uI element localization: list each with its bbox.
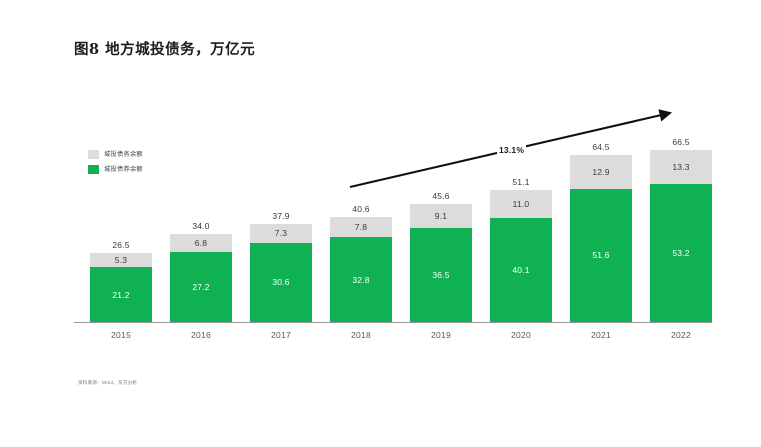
bar-total-label: 34.0	[170, 221, 232, 231]
chart-page: 图8 地方城投债务，万亿元 城投债务余额 城投债券余额 26.5 5.3 21.…	[0, 0, 761, 447]
bar-segment-green: 40.1	[490, 218, 552, 322]
bar-segment-gray: 6.8	[170, 234, 232, 252]
bar-segment-gray: 7.3	[250, 224, 312, 243]
bar-segment-gray-value: 12.9	[592, 167, 609, 177]
x-axis-line	[74, 322, 712, 323]
bar-segment-gray: 7.8	[330, 217, 392, 237]
bar-segment-green: 32.8	[330, 237, 392, 322]
x-axis-label: 2020	[490, 330, 552, 340]
bar-segment-green-value: 27.2	[192, 282, 209, 292]
bar-segment-green: 53.2	[650, 184, 712, 322]
bar-segment-green-value: 36.5	[432, 270, 449, 280]
legend-item-debt-total: 城投债务余额	[88, 148, 208, 160]
legend-label-debt-total: 城投债务余额	[104, 150, 143, 159]
bar-total-label: 40.6	[330, 204, 392, 214]
legend-label-bond-balance: 城投债券余额	[104, 165, 143, 174]
x-axis-label: 2017	[250, 330, 312, 340]
bar-segment-gray: 13.3	[650, 150, 712, 184]
bar-segment-green-value: 30.6	[272, 277, 289, 287]
bar-segment-green-value: 51.6	[592, 250, 609, 260]
bar-segment-gray-value: 6.8	[195, 238, 207, 248]
bar-total-label: 26.5	[90, 240, 152, 250]
bar-segment-green-value: 53.2	[672, 248, 689, 258]
bar-segment-green: 21.2	[90, 267, 152, 322]
bar-segment-gray-value: 13.3	[672, 162, 689, 172]
bar-group-2017[interactable]: 37.9 7.3 30.6 2017	[250, 224, 312, 322]
x-axis-label: 2016	[170, 330, 232, 340]
x-axis-label: 2022	[650, 330, 712, 340]
bar-segment-gray-value: 9.1	[435, 211, 447, 221]
x-axis-label: 2018	[330, 330, 392, 340]
x-axis-label: 2019	[410, 330, 472, 340]
bar-group-2015[interactable]: 26.5 5.3 21.2 2015	[90, 253, 152, 322]
legend-swatch-green	[88, 165, 99, 174]
legend-swatch-gray	[88, 150, 99, 159]
bar-segment-green: 36.5	[410, 228, 472, 322]
chart-legend: 城投债务余额 城投债券余额	[88, 148, 208, 178]
bar-group-2020[interactable]: 51.1 11.0 40.1 2020	[490, 190, 552, 322]
bar-group-2022[interactable]: 66.5 13.3 53.2 2022	[650, 150, 712, 322]
bar-total-label: 51.1	[490, 177, 552, 187]
bar-total-label: 45.6	[410, 191, 472, 201]
source-note: 资料来源：Wind，东方分析	[78, 380, 137, 386]
x-axis-label: 2021	[570, 330, 632, 340]
bar-segment-gray-value: 11.0	[513, 199, 530, 209]
bar-segment-green: 30.6	[250, 243, 312, 322]
bar-segment-green-value: 21.2	[112, 290, 129, 300]
bar-segment-green: 27.2	[170, 252, 232, 322]
growth-rate-label: 13.1%	[497, 144, 526, 156]
bar-segment-gray-value: 7.8	[355, 222, 367, 232]
bar-total-label: 37.9	[250, 211, 312, 221]
bar-segment-green-value: 32.8	[352, 275, 369, 285]
bar-group-2018[interactable]: 40.6 7.8 32.8 2018	[330, 217, 392, 322]
bar-total-label: 66.5	[650, 137, 712, 147]
bar-group-2019[interactable]: 45.6 9.1 36.5 2019	[410, 204, 472, 322]
bar-segment-green-value: 40.1	[512, 265, 529, 275]
bar-total-label: 64.5	[570, 142, 632, 152]
bar-group-2021[interactable]: 64.5 12.9 51.6 2021	[570, 155, 632, 322]
bar-segment-green: 51.6	[570, 189, 632, 322]
bar-segment-gray-value: 7.3	[275, 228, 287, 238]
bar-group-2016[interactable]: 34.0 6.8 27.2 2016	[170, 234, 232, 322]
bar-segment-gray: 9.1	[410, 204, 472, 228]
bar-segment-gray: 5.3	[90, 253, 152, 267]
bar-segment-gray-value: 5.3	[115, 255, 127, 265]
x-axis-label: 2015	[90, 330, 152, 340]
bar-segment-gray: 11.0	[490, 190, 552, 218]
legend-item-bond-balance: 城投债券余额	[88, 163, 208, 175]
bar-segment-gray: 12.9	[570, 155, 632, 188]
